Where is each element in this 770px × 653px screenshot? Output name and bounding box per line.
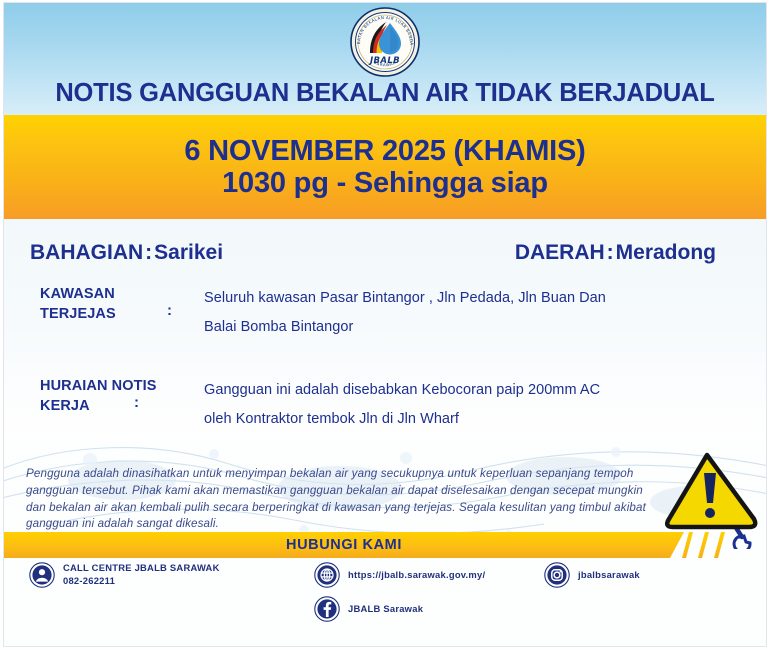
contact-instagram-text: jbalbsarawak xyxy=(578,569,640,582)
district-label: DAERAH xyxy=(515,241,605,264)
notice-time: 1030 pg - Sehingga siap xyxy=(222,167,548,199)
notice-date: 6 NOVEMBER 2025 (KHAMIS) xyxy=(184,135,585,167)
globe-icon xyxy=(314,562,340,588)
page-title: NOTIS GANGGUAN BEKALAN AIR TIDAK BERJADU… xyxy=(4,79,766,108)
band-stripe-3 xyxy=(714,532,725,558)
work-description-label: HURAIAN NOTIS KERJA xyxy=(40,377,200,416)
contact-band: HUBUNGI KAMI xyxy=(4,532,766,558)
band-stripe-2 xyxy=(698,532,709,558)
person-icon xyxy=(29,562,55,588)
division-separator: : xyxy=(143,241,154,264)
contact-band-title: HUBUNGI KAMI xyxy=(4,532,684,558)
district-separator: : xyxy=(605,241,616,264)
jbalb-sarawak-logo: JABATAN BEKALAN AIR LUAR BANDAR SARAWAK … xyxy=(349,6,421,78)
instagram-icon xyxy=(544,562,570,588)
region-row: BAHAGIAN:Sarikei DAERAH:Meradong xyxy=(4,241,766,275)
svg-text:JBALB: JBALB xyxy=(368,56,400,66)
footer-contacts: CALL CENTRE JBALB SARAWAK 082-262211 htt… xyxy=(4,560,766,630)
contact-call-centre-text: CALL CENTRE JBALB SARAWAK 082-262211 xyxy=(63,562,220,587)
poster-header: JABATAN BEKALAN AIR LUAR BANDAR SARAWAK … xyxy=(4,3,766,115)
disclaimer-text: Pengguna adalah dinasihatkan untuk menyi… xyxy=(26,466,662,533)
division-label: BAHAGIAN xyxy=(30,241,143,264)
contact-website-text: https://jbalb.sarawak.gov.my/ xyxy=(348,569,485,582)
contact-instagram[interactable]: jbalbsarawak xyxy=(544,562,640,588)
work-description-separator: : xyxy=(134,394,139,411)
affected-area-value: Seluruh kawasan Pasar Bintangor , Jln Pe… xyxy=(204,284,734,342)
contact-call-centre[interactable]: CALL CENTRE JBALB SARAWAK 082-262211 xyxy=(29,562,220,588)
affected-area-separator: : xyxy=(167,302,172,319)
work-description-value: Gangguan ini adalah disebabkan Kebocoran… xyxy=(204,376,734,434)
district-value: Meradong xyxy=(616,241,716,264)
division-field: BAHAGIAN:Sarikei xyxy=(30,241,223,265)
affected-area-label: KAWASAN TERJEJAS xyxy=(40,285,200,324)
district-field: DAERAH:Meradong xyxy=(515,241,716,265)
division-value: Sarikei xyxy=(154,241,223,264)
facebook-icon xyxy=(314,596,340,622)
contact-facebook-text: JBALB Sarawak xyxy=(348,603,423,616)
water-disruption-notice-poster: JABATAN BEKALAN AIR LUAR BANDAR SARAWAK … xyxy=(0,0,770,653)
contact-website[interactable]: https://jbalb.sarawak.gov.my/ xyxy=(314,562,485,588)
contact-facebook[interactable]: JBALB Sarawak xyxy=(314,596,423,622)
notice-body: BAHAGIAN:Sarikei DAERAH:Meradong KAWASAN… xyxy=(4,219,766,441)
date-time-banner: 6 NOVEMBER 2025 (KHAMIS) 1030 pg - Sehin… xyxy=(4,115,766,219)
